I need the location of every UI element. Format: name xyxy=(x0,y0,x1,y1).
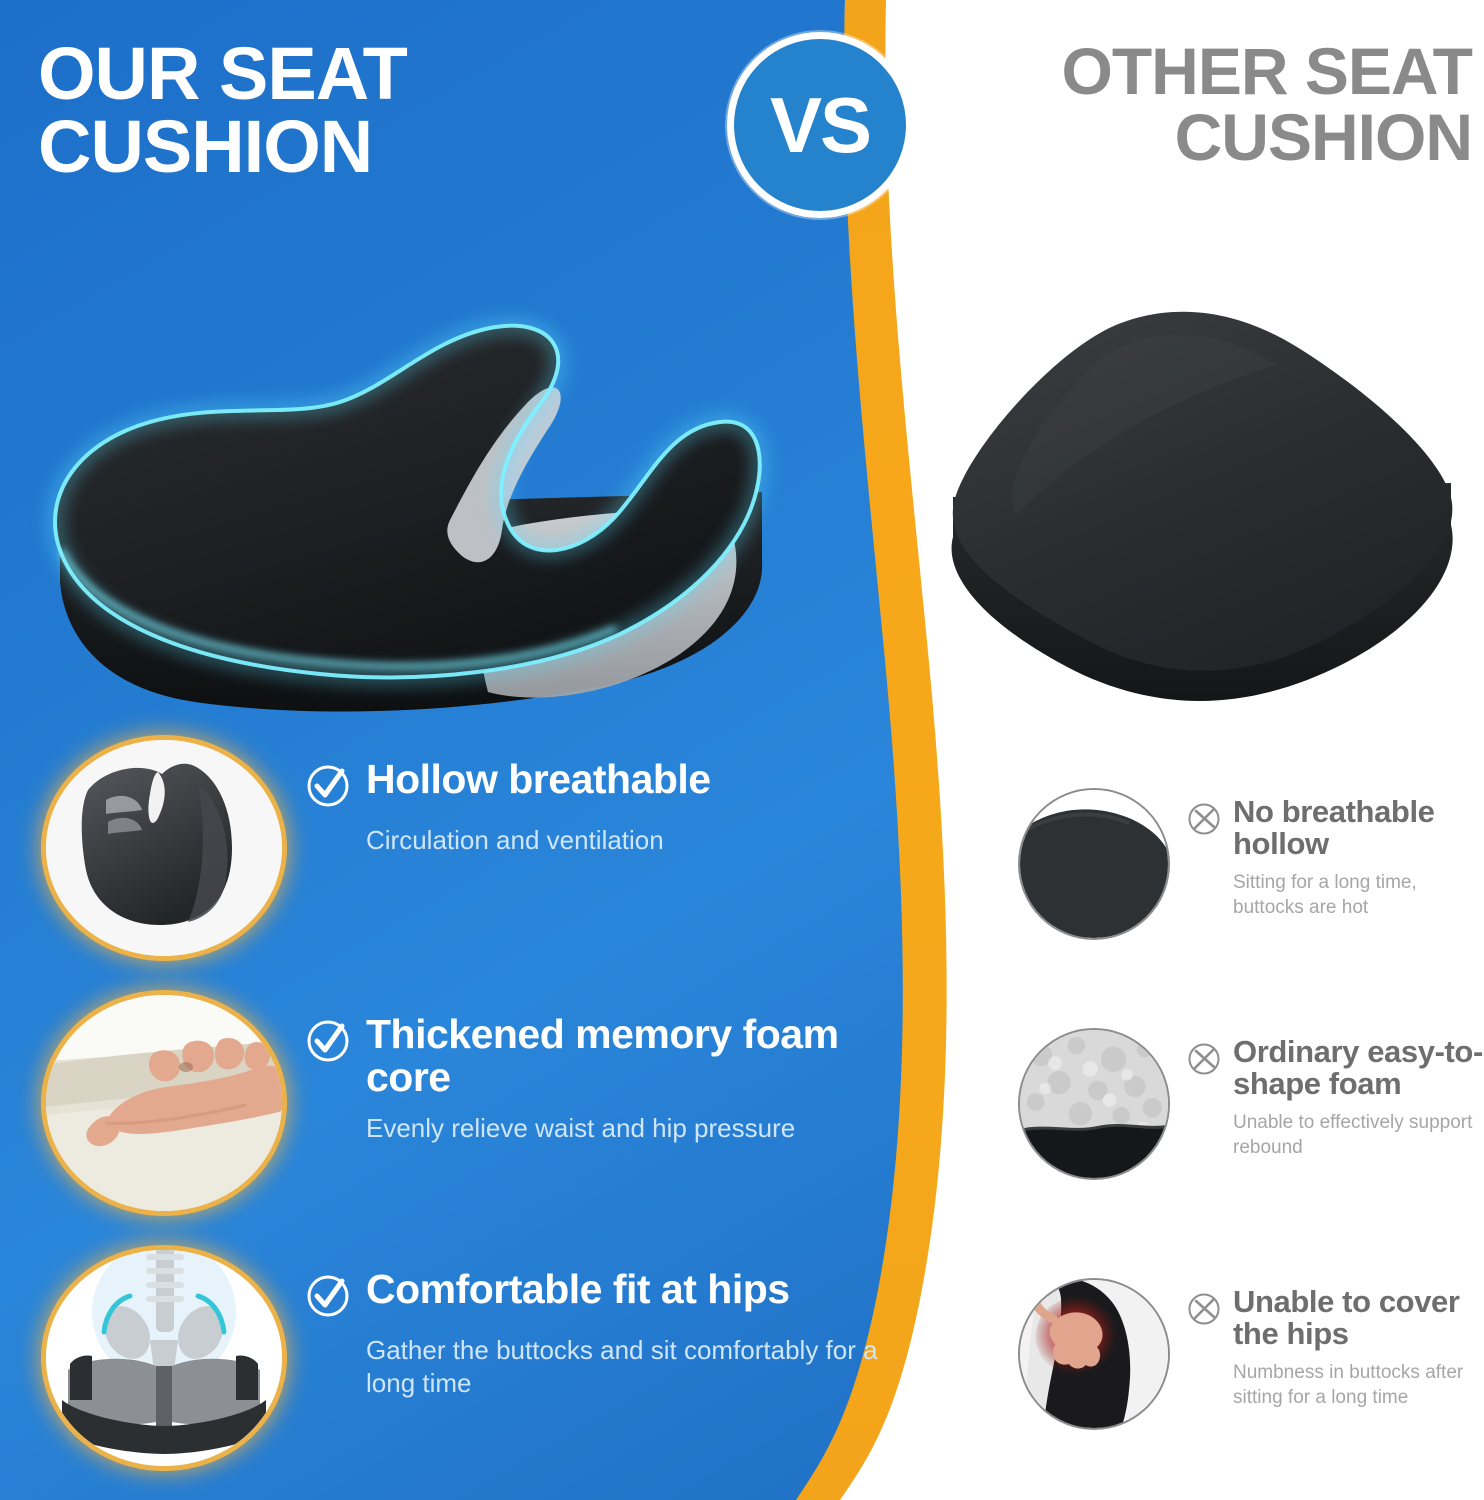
left-feature-text: Comfortable fit at hips Gather the butto… xyxy=(304,1250,926,1401)
x-circle-icon xyxy=(1186,1291,1222,1327)
right-feature-text: Ordinary easy-to-shape foam Unable to ef… xyxy=(1186,1028,1484,1160)
hero-our-cushion-image xyxy=(20,282,820,732)
check-circle-icon xyxy=(304,1017,352,1065)
right-feature-row: No breathable hollow Sitting for a long … xyxy=(1018,788,1484,940)
right-title-line-2: CUSHION xyxy=(932,104,1472,170)
left-feature-subtitle: Gather the buttocks and sit comfortably … xyxy=(366,1334,926,1401)
check-circle-icon xyxy=(304,1272,352,1320)
right-feature-subtitle: Unable to effectively support rebound xyxy=(1233,1110,1484,1160)
x-circle-icon xyxy=(1186,801,1222,837)
vs-label: VS xyxy=(770,86,870,164)
right-feature-row: Unable to cover the hips Numbness in but… xyxy=(1018,1278,1484,1430)
check-circle-icon xyxy=(304,762,352,810)
right-feature-title: Ordinary easy-to-shape foam xyxy=(1233,1036,1484,1100)
left-feature-row: Comfortable fit at hips Gather the butto… xyxy=(46,1250,926,1466)
ordinary-foam-texture-thumbnail xyxy=(1018,1028,1170,1180)
left-feature-title: Hollow breathable xyxy=(366,758,711,801)
left-feature-text: Thickened memory foam core Evenly reliev… xyxy=(304,995,926,1146)
left-feature-title: Thickened memory foam core xyxy=(366,1013,926,1098)
right-feature-subtitle: Numbness in buttocks after sitting for a… xyxy=(1233,1360,1484,1410)
flat-black-cushion-thumbnail xyxy=(1018,788,1170,940)
x-circle-icon xyxy=(1186,1041,1222,1077)
right-title-line-1: OTHER SEAT xyxy=(932,38,1472,104)
right-feature-text: Unable to cover the hips Numbness in but… xyxy=(1186,1278,1484,1410)
left-feature-subtitle: Evenly relieve waist and hip pressure xyxy=(366,1112,926,1145)
left-title-line-2: CUSHION xyxy=(38,111,658,184)
right-feature-text: No breathable hollow Sitting for a long … xyxy=(1186,788,1484,920)
cushion-hollow-cutout-thumbnail xyxy=(46,740,282,956)
comparison-infographic: OUR SEAT CUSHION VS OTHER SEAT CUSHION xyxy=(0,0,1484,1500)
right-feature-title: Unable to cover the hips xyxy=(1233,1286,1484,1350)
vs-badge: VS xyxy=(727,32,913,218)
person-hip-pain-thumbnail xyxy=(1018,1278,1170,1430)
right-feature-row: Ordinary easy-to-shape foam Unable to ef… xyxy=(1018,1028,1484,1180)
left-feature-row: Thickened memory foam core Evenly reliev… xyxy=(46,995,926,1211)
hero-other-cushion-image xyxy=(925,285,1475,730)
right-feature-subtitle: Sitting for a long time, buttocks are ho… xyxy=(1233,870,1484,920)
left-feature-text: Hollow breathable Circulation and ventil… xyxy=(304,740,926,857)
page-title-left: OUR SEAT CUSHION xyxy=(38,38,658,183)
page-title-right: OTHER SEAT CUSHION xyxy=(932,38,1472,170)
right-feature-title: No breathable hollow xyxy=(1233,796,1484,860)
left-feature-row: Hollow breathable Circulation and ventil… xyxy=(46,740,926,956)
left-feature-subtitle: Circulation and ventilation xyxy=(366,824,926,857)
pelvis-skeleton-on-cushion-thumbnail xyxy=(46,1250,282,1466)
left-title-line-1: OUR SEAT xyxy=(38,38,658,111)
left-feature-title: Comfortable fit at hips xyxy=(366,1268,790,1311)
hand-pressing-memory-foam-thumbnail xyxy=(46,995,282,1211)
